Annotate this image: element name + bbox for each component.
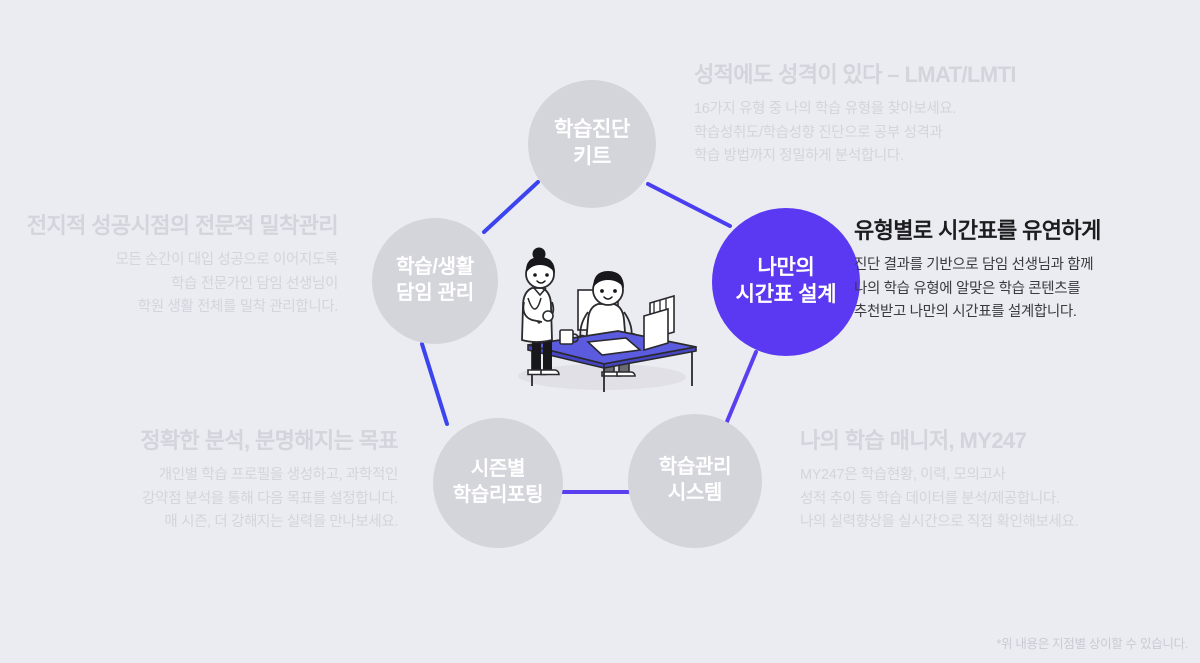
description-body: 16가지 유형 중 나의 학습 유형을 찾아보세요. 학습성취도/학습성향 진단… (694, 98, 1124, 168)
description-body: 모든 순간이 대입 성공으로 이어지도록 학습 전문가인 담임 선생님이 학원 … (0, 249, 338, 319)
line-diagnosis-schedule (648, 184, 730, 226)
description-report: 정확한 분석, 분명해지는 목표 개인별 학습 프로필을 생성하고, 과학적인 … (60, 428, 410, 535)
node-learning-management-system[interactable]: 학습관리 시스템 (628, 414, 762, 548)
description-title: 유형별로 시간표를 유연하게 (854, 218, 1184, 244)
description-system: 나의 학습 매니저, MY247 MY247은 학습현황, 이력, 모의고사 성… (800, 428, 1160, 535)
infographic-canvas: 학습진단 키트 학습/생활 담임 관리 나만의 시간표 설계 시즌별 학습리포팅… (0, 0, 1200, 663)
description-body: 진단 결과를 기반으로 담임 선생님과 함께 나의 학습 유형에 알맞은 학습 … (854, 254, 1184, 324)
description-body: MY247은 학습현황, 이력, 모의고사 성적 추이 등 학습 데이터를 분석… (800, 464, 1160, 534)
description-title: 정확한 분석, 분명해지는 목표 (60, 428, 398, 454)
node-label-line2: 키트 (573, 144, 611, 171)
center-illustration (492, 246, 708, 398)
node-my-timetable-design[interactable]: 나만의 시간표 설계 (712, 208, 860, 356)
node-label-line1: 학습/생활 (396, 255, 474, 281)
description-title: 전지적 성공시점의 전문적 밀착관리 (0, 213, 338, 239)
node-label-line2: 학습리포팅 (453, 483, 544, 509)
description-body: 개인별 학습 프로필을 생성하고, 과학적인 강약점 분석을 통해 다음 목표를… (60, 464, 398, 534)
footnote: *위 내용은 지점별 상이할 수 있습니다. (996, 633, 1188, 652)
node-label-line2: 시스템 (668, 481, 722, 507)
description-diagnosis: 성적에도 성격이 있다 – LMAT/LMTI 16가지 유형 중 나의 학습 … (694, 62, 1124, 169)
node-label-line1: 학습관리 (659, 455, 731, 481)
node-label-line1: 나만의 (757, 255, 814, 282)
description-title: 나의 학습 매니저, MY247 (800, 428, 1160, 454)
node-homeroom-management[interactable]: 학습/생활 담임 관리 (372, 218, 498, 344)
line-report-mentor (422, 344, 447, 424)
node-label-line1: 시즌별 (471, 457, 525, 483)
node-label-line2: 시간표 설계 (736, 282, 837, 309)
node-label-line2: 담임 관리 (396, 281, 474, 307)
node-learning-diagnosis-kit[interactable]: 학습진단 키트 (528, 80, 656, 208)
line-schedule-system (726, 352, 756, 424)
node-seasonal-learning-report[interactable]: 시즌별 학습리포팅 (433, 418, 563, 548)
description-title: 성적에도 성격이 있다 – LMAT/LMTI (694, 62, 1124, 88)
description-mentor: 전지적 성공시점의 전문적 밀착관리 모든 순간이 대입 성공으로 이어지도록 … (0, 213, 350, 320)
node-label-line1: 학습진단 (554, 117, 630, 144)
description-schedule: 유형별로 시간표를 유연하게 진단 결과를 기반으로 담임 선생님과 함께 나의… (854, 218, 1184, 325)
line-mentor-diagnosis (484, 182, 538, 232)
